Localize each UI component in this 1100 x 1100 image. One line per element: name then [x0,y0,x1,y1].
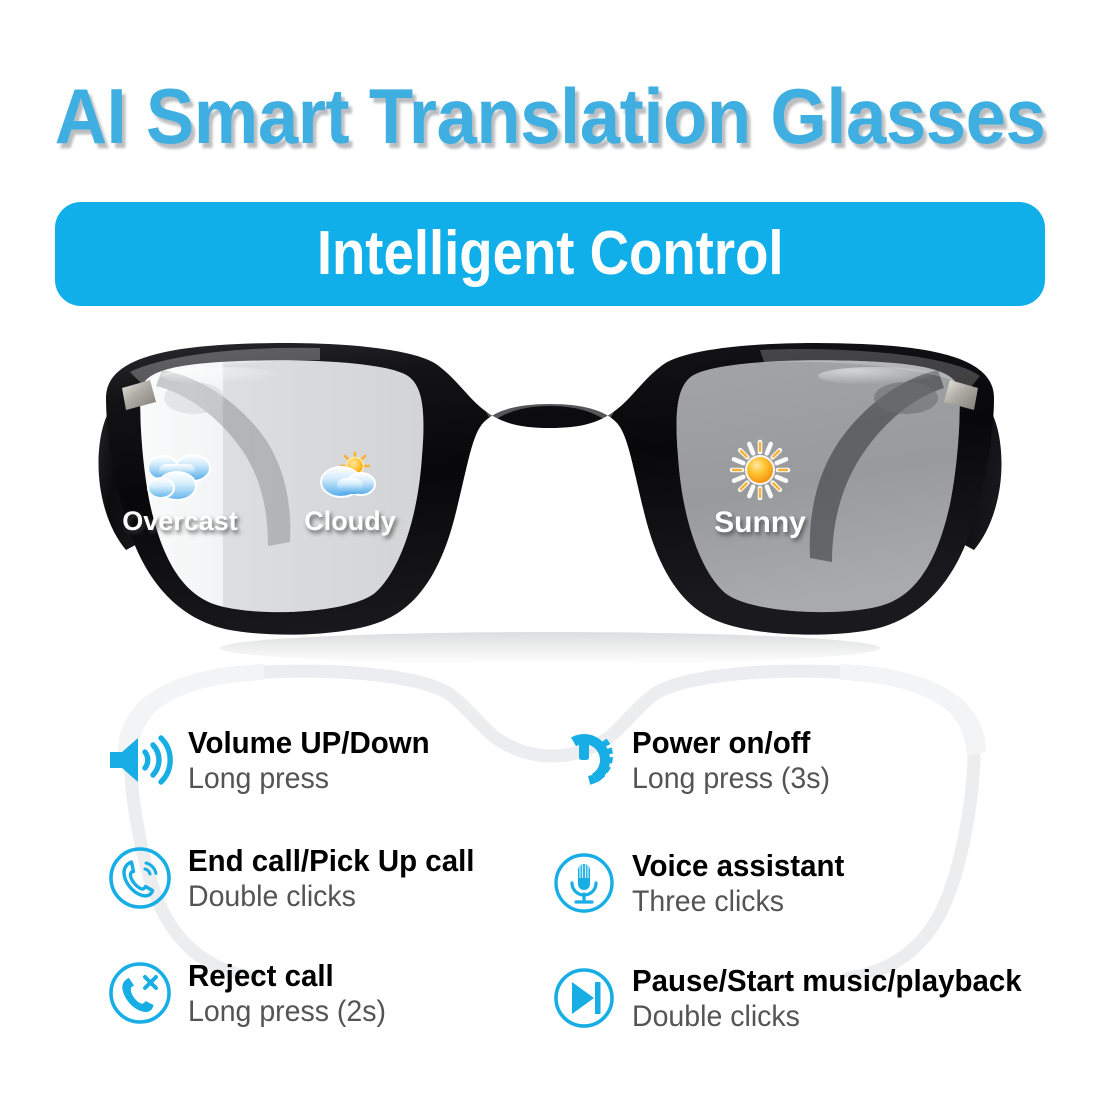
intelligent-control-banner: Intelligent Control [55,202,1045,306]
phone-ring-icon [104,842,176,914]
feature-title: Power on/off [632,726,830,760]
feature-text-voice-assistant: Voice assistant Three clicks [620,847,855,919]
feature-item-voice-assistant[interactable]: Voice assistant Three clicks [548,847,855,919]
feature-item-end-call[interactable]: End call/Pick Up call Double clicks [104,842,490,914]
feature-item-power[interactable]: Power on/off Long press (3s) [548,724,840,796]
feature-title: Voice assistant [632,849,844,883]
feature-text-reject-call: Reject call Long press (2s) [176,957,396,1029]
feature-action: Double clicks [188,880,474,914]
feature-action: Long press [188,762,430,796]
control-feature-list: Volume UP/Down Long press [0,712,1100,1072]
feature-item-reject-call[interactable]: Reject call Long press (2s) [104,957,396,1029]
feature-title: End call/Pick Up call [188,844,474,878]
feature-item-playback[interactable]: Pause/Start music/playback Double clicks [548,962,1042,1034]
feature-item-volume[interactable]: Volume UP/Down Long press [104,724,442,796]
power-button-icon [548,724,620,796]
feature-text-power: Power on/off Long press (3s) [620,724,840,796]
phone-reject-icon [104,957,176,1029]
feature-title: Pause/Start music/playback [632,964,1022,998]
glasses-illustration [70,336,1030,666]
microphone-icon [548,847,620,919]
feature-action: Long press (2s) [188,995,386,1029]
speaker-volume-icon [104,724,176,796]
product-photo [70,336,1030,666]
play-skip-icon [548,962,620,1034]
feature-action: Long press (3s) [632,762,830,796]
feature-title: Volume UP/Down [188,726,430,760]
feature-action: Three clicks [632,885,844,919]
feature-text-volume: Volume UP/Down Long press [176,724,442,796]
feature-title: Reject call [188,959,386,993]
feature-action: Double clicks [632,1000,1022,1034]
feature-text-playback: Pause/Start music/playback Double clicks [620,962,1042,1034]
banner-label: Intelligent Control [317,222,784,286]
feature-text-end-call: End call/Pick Up call Double clicks [176,842,490,914]
page-title: AI Smart Translation Glasses [39,74,1062,158]
